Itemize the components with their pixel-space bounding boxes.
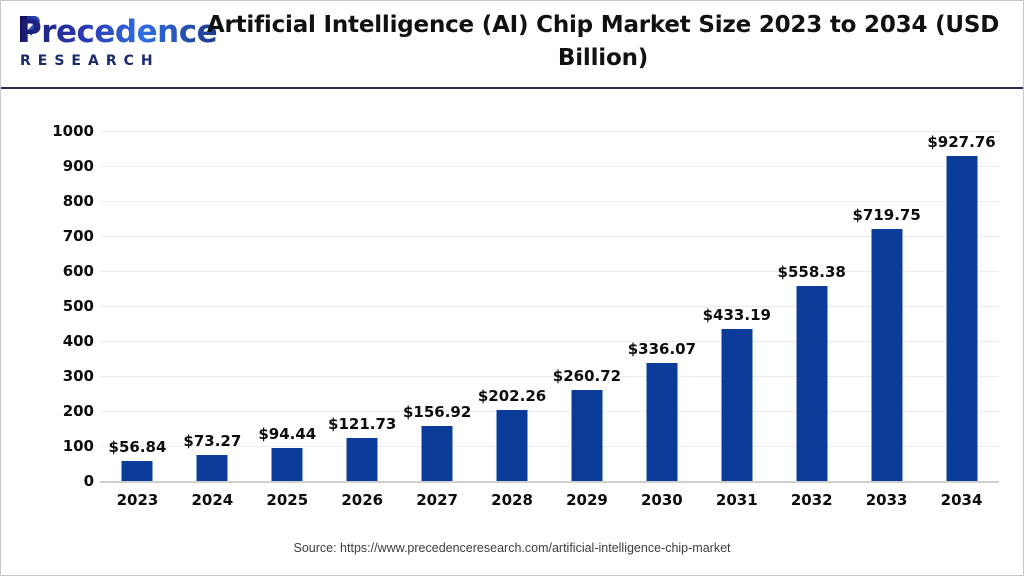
bar-group[interactable]: $56.842023 (100, 89, 175, 575)
bar[interactable] (122, 461, 153, 481)
bar[interactable] (422, 426, 453, 481)
source-note: Source: https://www.precedenceresearch.c… (1, 541, 1023, 555)
y-axis-tick-label: 900 (32, 159, 94, 174)
bar-group[interactable]: $336.072030 (624, 89, 699, 575)
y-axis-tick-label: 0 (32, 474, 94, 489)
chart-title: Artificial Intelligence (AI) Chip Market… (197, 9, 1009, 75)
bar[interactable] (571, 390, 602, 481)
bar-value-label: $558.38 (778, 265, 846, 280)
bar-group[interactable]: $94.442025 (250, 89, 325, 575)
y-axis-tick-label: 1000 (32, 124, 94, 139)
y-axis-tick-label: 500 (32, 299, 94, 314)
y-axis-tick-label: 400 (32, 334, 94, 349)
y-axis-tick-label: 800 (32, 194, 94, 209)
bar-group[interactable]: $927.762034 (924, 89, 999, 575)
bar-group[interactable]: $202.262028 (475, 89, 550, 575)
x-axis-tick-label: 2025 (266, 493, 308, 508)
bar-value-label: $260.72 (553, 369, 621, 384)
x-axis-tick-label: 2026 (341, 493, 383, 508)
bar[interactable] (946, 156, 977, 481)
bar-group[interactable]: $73.272024 (175, 89, 250, 575)
bar[interactable] (796, 286, 827, 481)
bar-series: $56.842023$73.272024$94.442025$121.73202… (100, 89, 999, 575)
y-axis-tick-label: 600 (32, 264, 94, 279)
bar[interactable] (871, 229, 902, 481)
x-axis-tick-label: 2028 (491, 493, 533, 508)
x-axis-tick-label: 2033 (866, 493, 908, 508)
bar-group[interactable]: $433.192031 (699, 89, 774, 575)
bar-group[interactable]: $719.752033 (849, 89, 924, 575)
bar[interactable] (721, 329, 752, 481)
y-axis-tick-labels: 10009008007006005004003002001000 (28, 89, 94, 575)
logo-wordmark: Precedence (19, 15, 217, 49)
x-axis-tick-label: 2032 (791, 493, 833, 508)
bar-value-label: $56.84 (109, 440, 167, 455)
bar-group[interactable]: $121.732026 (325, 89, 400, 575)
bar-value-label: $336.07 (628, 342, 696, 357)
bar-group[interactable]: $260.722029 (550, 89, 625, 575)
x-axis-tick-label: 2024 (191, 493, 233, 508)
bar-value-label: $121.73 (328, 417, 396, 432)
bar-value-label: $927.76 (927, 135, 995, 150)
chart-header: Precedence RESEARCH Artificial Intellige… (1, 1, 1023, 89)
x-axis-tick-label: 2023 (117, 493, 159, 508)
bar-group[interactable]: $156.922027 (400, 89, 475, 575)
bar[interactable] (197, 455, 228, 481)
bar[interactable] (646, 363, 677, 481)
y-axis-tick-label: 700 (32, 229, 94, 244)
bar-value-label: $433.19 (703, 308, 771, 323)
bar-value-label: $202.26 (478, 389, 546, 404)
x-axis-tick-label: 2034 (941, 493, 983, 508)
bar[interactable] (272, 448, 303, 481)
x-axis-tick-label: 2031 (716, 493, 758, 508)
x-axis-tick-label: 2030 (641, 493, 683, 508)
bar-group[interactable]: $558.382032 (774, 89, 849, 575)
y-axis-tick-label: 200 (32, 404, 94, 419)
bar-value-label: $156.92 (403, 405, 471, 420)
bar[interactable] (497, 410, 528, 481)
plot-area: 10009008007006005004003002001000 $56.842… (1, 89, 1023, 575)
precedence-research-logo: Precedence RESEARCH (15, 13, 183, 75)
logo-subtitle: RESEARCH (20, 53, 160, 69)
bar-value-label: $719.75 (852, 208, 920, 223)
x-axis-tick-label: 2027 (416, 493, 458, 508)
x-axis-tick-label: 2029 (566, 493, 608, 508)
y-axis-tick-label: 300 (32, 369, 94, 384)
bar-value-label: $94.44 (258, 427, 316, 442)
bar[interactable] (347, 438, 378, 481)
bar-value-label: $73.27 (183, 434, 241, 449)
chart-page: Precedence RESEARCH Artificial Intellige… (0, 0, 1024, 576)
y-axis-tick-label: 100 (32, 439, 94, 454)
